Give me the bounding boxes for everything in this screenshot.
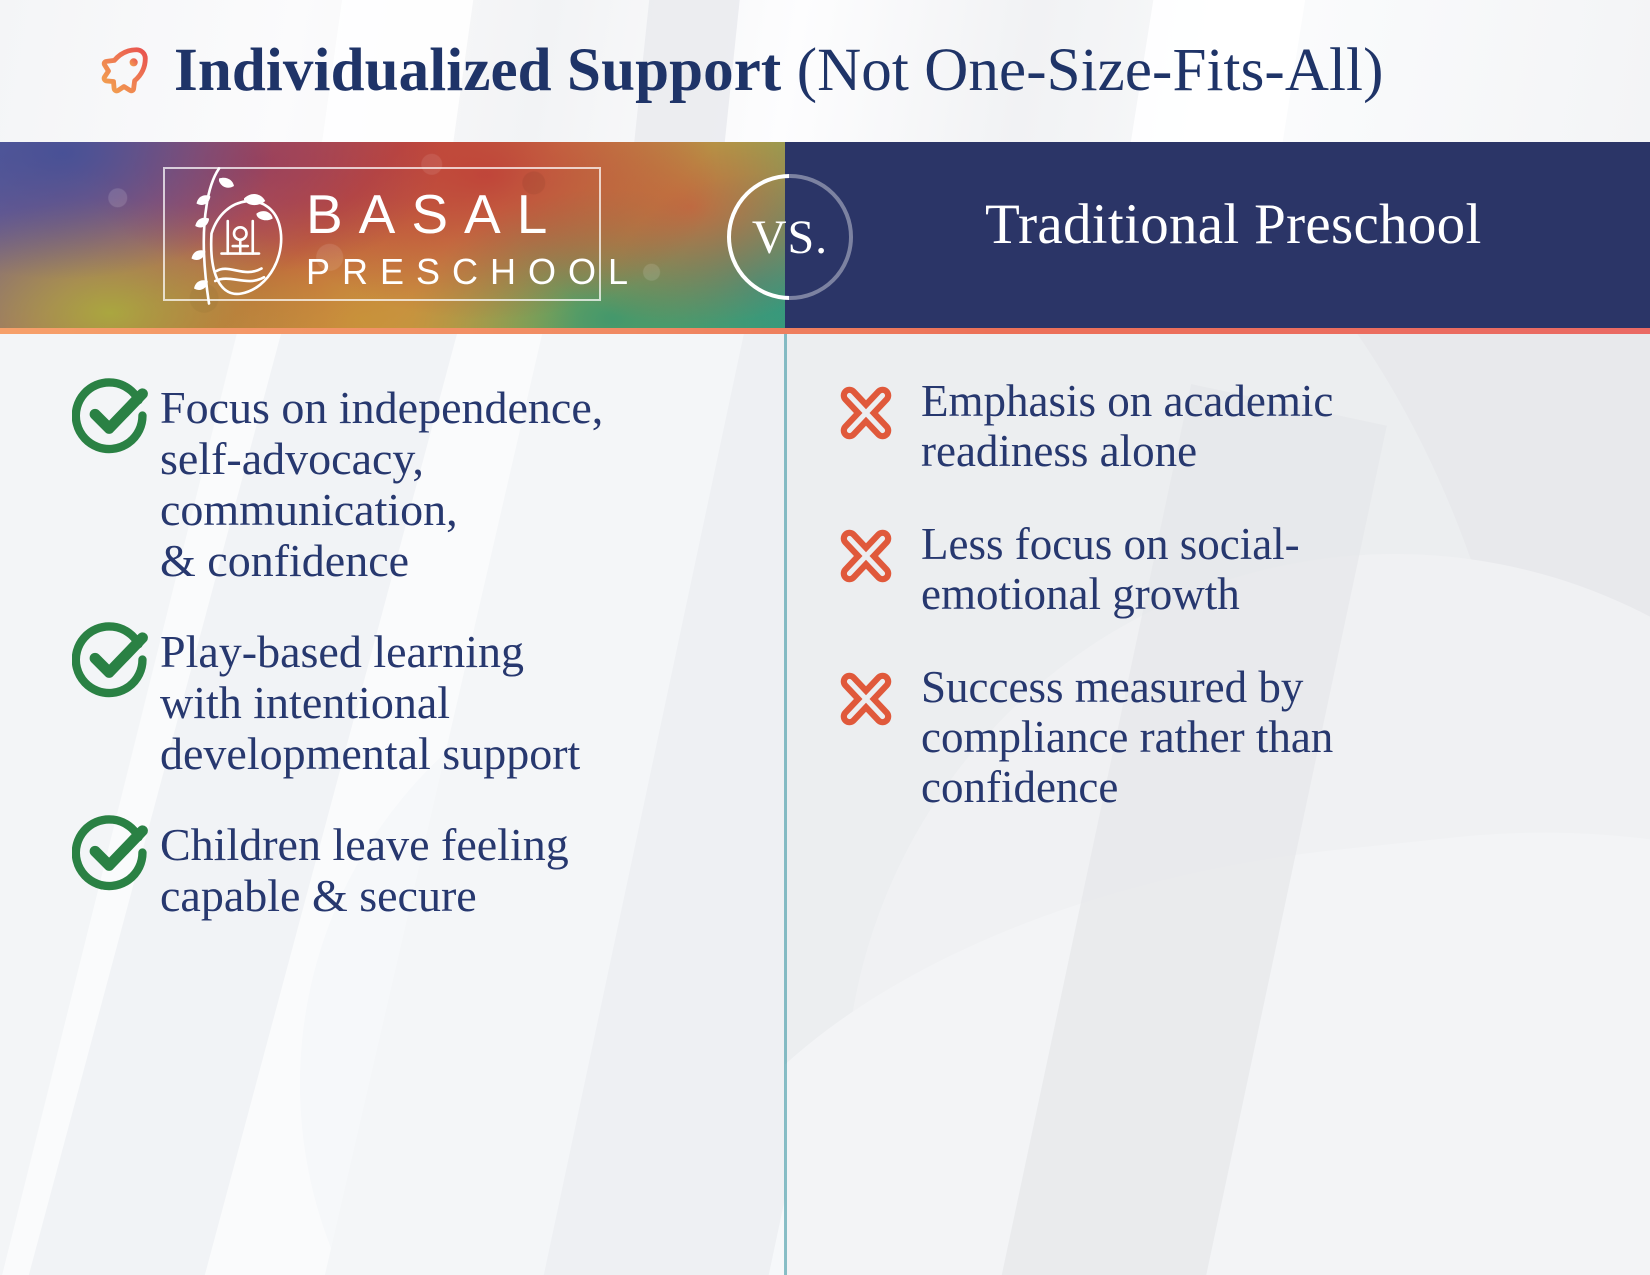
list-item-line: compliance rather than — [921, 712, 1333, 762]
list-item-line: Children leave feeling — [160, 819, 569, 870]
list-item-text: Success measured bycompliance rather tha… — [921, 662, 1333, 813]
brand-name: BASAL — [306, 187, 640, 242]
list-item: Success measured bycompliance rather tha… — [833, 664, 1623, 813]
tree-swing-logo-icon — [170, 161, 298, 311]
list-item-line: Play-based learning — [160, 626, 580, 677]
list-item-text: Children leave feelingcapable & secure — [160, 819, 569, 921]
list-item-line: communication, — [160, 484, 603, 535]
pros-column: Focus on independence,self-advocacy,comm… — [0, 334, 785, 1275]
list-item: Children leave feelingcapable & secure — [72, 817, 762, 921]
list-item-line: Less focus on social- — [921, 519, 1300, 569]
cons-column: Emphasis on academicreadiness aloneLess … — [785, 334, 1650, 1275]
list-item-line: confidence — [921, 762, 1333, 812]
title-bar: Individualized Support (Not One-Size-Fit… — [0, 0, 1650, 142]
comparison-body: Focus on independence,self-advocacy,comm… — [0, 334, 1650, 1275]
page-title: Individualized Support (Not One-Size-Fit… — [174, 36, 1383, 106]
list-item-line: Focus on independence, — [160, 382, 603, 433]
x-mark-icon — [833, 380, 899, 446]
cons-list: Emphasis on academicreadiness aloneLess … — [833, 378, 1623, 857]
vs-badge: VS. — [727, 174, 853, 300]
list-item-line: Emphasis on academic — [921, 376, 1333, 426]
list-item-text: Focus on independence,self-advocacy,comm… — [160, 382, 603, 586]
list-item-line: capable & secure — [160, 870, 569, 921]
list-item-text: Emphasis on academicreadiness alone — [921, 376, 1333, 477]
x-mark-icon — [833, 523, 899, 589]
list-item-line: emotional growth — [921, 569, 1300, 619]
list-item-line: with intentional — [160, 677, 580, 728]
brand-logo: BASAL PRESCHOOL — [170, 156, 610, 316]
pros-list: Focus on independence,self-advocacy,comm… — [72, 380, 762, 959]
brand-subtitle: PRESCHOOL — [306, 254, 640, 290]
list-item-text: Play-based learningwith intentionaldevel… — [160, 626, 580, 779]
list-item: Play-based learningwith intentionaldevel… — [72, 624, 762, 779]
comparison-header-band: BASAL PRESCHOOL VS. Traditional Preschoo… — [0, 142, 1650, 328]
column-divider — [784, 334, 787, 1275]
list-item-line: developmental support — [160, 728, 580, 779]
check-circle-icon — [72, 616, 154, 698]
page-title-bold: Individualized Support — [174, 37, 781, 104]
rocket-icon — [92, 42, 154, 104]
page-title-light: (Not One-Size-Fits-All) — [781, 37, 1383, 104]
list-item: Emphasis on academicreadiness alone — [833, 378, 1623, 477]
list-item-text: Less focus on social-emotional growth — [921, 519, 1300, 620]
vs-label: VS. — [752, 210, 828, 265]
infographic-canvas: Individualized Support (Not One-Size-Fit… — [0, 0, 1650, 1275]
list-item-line: readiness alone — [921, 426, 1333, 476]
check-circle-icon — [72, 809, 154, 891]
list-item-line: & confidence — [160, 535, 603, 586]
check-circle-icon — [72, 372, 154, 454]
x-mark-icon — [833, 666, 899, 732]
traditional-preschool-title: Traditional Preschool — [985, 192, 1482, 257]
list-item-line: Success measured by — [921, 662, 1333, 712]
band-underline — [0, 328, 1650, 334]
list-item: Less focus on social-emotional growth — [833, 521, 1623, 620]
list-item: Focus on independence,self-advocacy,comm… — [72, 380, 762, 586]
list-item-line: self-advocacy, — [160, 433, 603, 484]
